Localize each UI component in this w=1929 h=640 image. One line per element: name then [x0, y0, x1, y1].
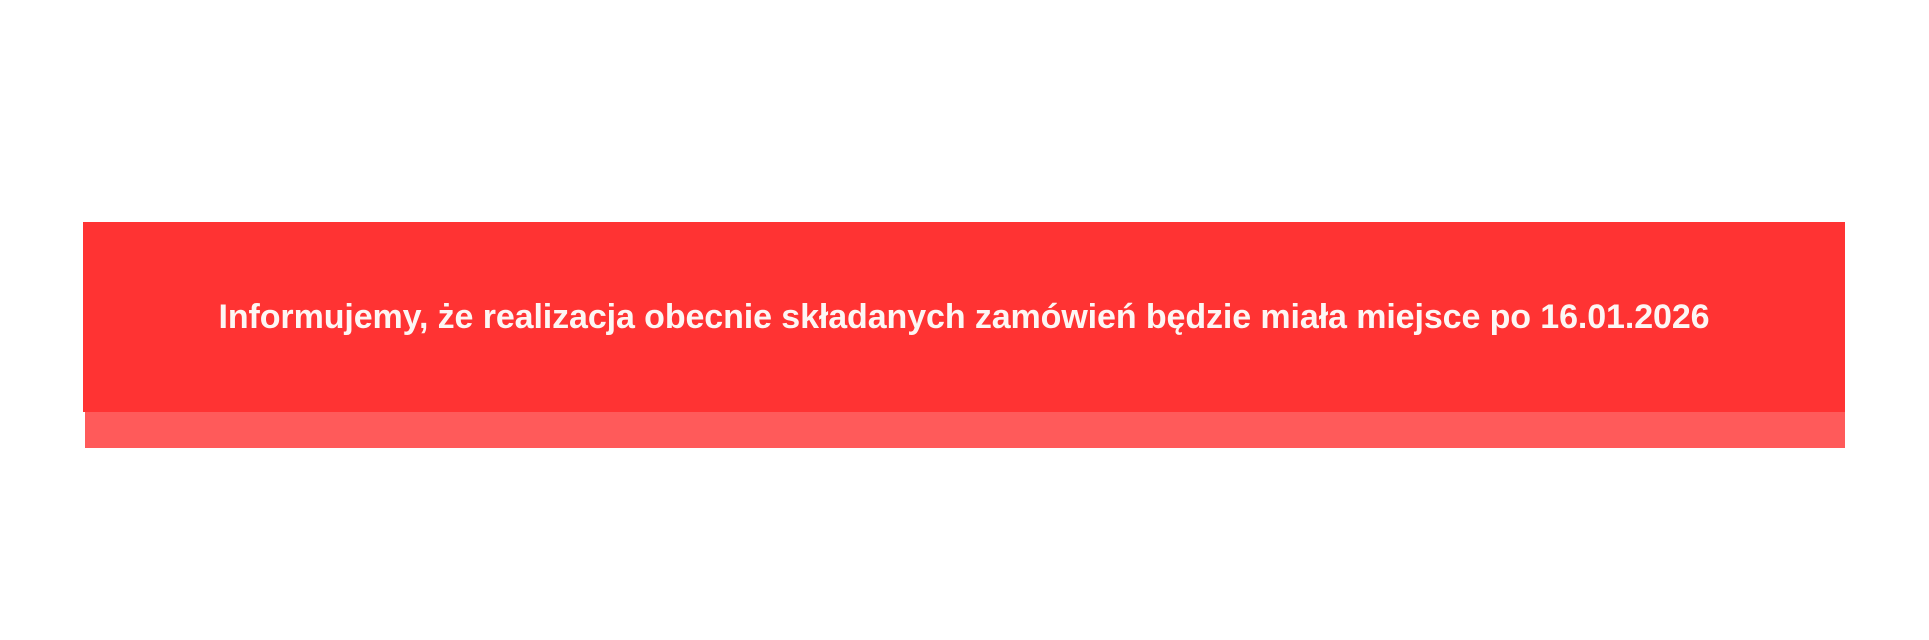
notice-banner-accent-strip [85, 412, 1845, 448]
notice-banner-message: Informujemy, że realizacja obecnie skład… [219, 296, 1710, 339]
notice-banner-body: Informujemy, że realizacja obecnie skład… [83, 222, 1845, 412]
page-background: Informujemy, że realizacja obecnie skład… [0, 0, 1929, 640]
notice-banner: Informujemy, że realizacja obecnie skład… [83, 222, 1845, 448]
